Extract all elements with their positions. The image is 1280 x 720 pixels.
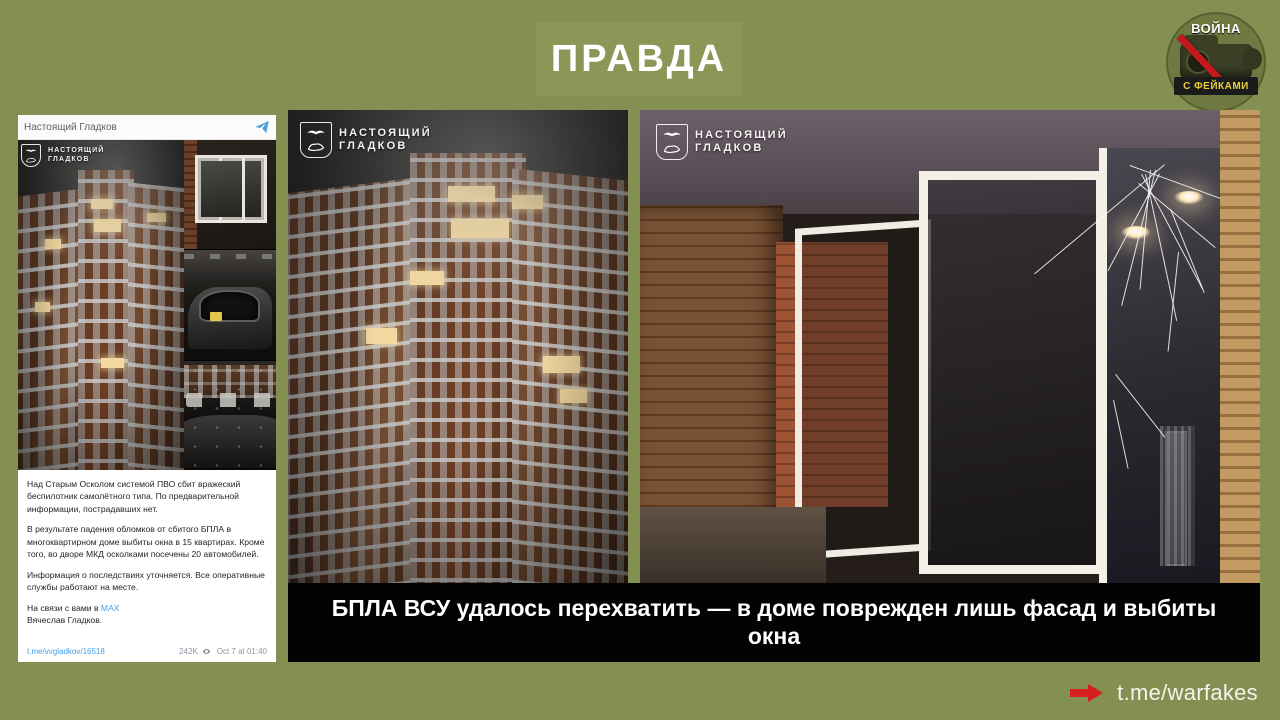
belgorod-coat-of-arms-icon	[300, 122, 332, 158]
post-signoff: На связи с вами в MAX Вячеслав Гладков.	[27, 602, 267, 627]
eye-icon	[202, 647, 211, 656]
photo-right-watermark-text: НАСТОЯЩИЙ ГЛАДКОВ	[695, 129, 788, 156]
telegram-channel-name: Настоящий Гладков	[24, 122, 254, 133]
post-paragraph: Информация о последствиях уточняется. Вс…	[27, 569, 267, 594]
photo-center-watermark-text: НАСТОЯЩИЙ ГЛАДКОВ	[339, 127, 432, 154]
caption-line-1: БПЛА ВСУ удалось перехватить — в доме по…	[332, 595, 1097, 621]
post-date: Oct 7 at 01:40	[217, 647, 267, 656]
photo-center-watermark: НАСТОЯЩИЙ ГЛАДКОВ	[300, 122, 432, 158]
belgorod-coat-of-arms-icon	[656, 124, 688, 160]
watermark-line-2: ГЛАДКОВ	[695, 142, 788, 155]
collage-thumbnails	[184, 140, 276, 470]
watermark-line-2: ГЛАДКОВ	[339, 140, 432, 153]
collage-main-photo: НАСТОЯЩИЙ ГЛАДКОВ	[18, 140, 184, 470]
post-permalink[interactable]: t.me/vvgladkov/16518	[27, 647, 179, 656]
caption-bar: БПЛА ВСУ удалось перехватить — в доме по…	[288, 583, 1260, 662]
warfakes-logo: ВОЙНА С ФЕЙКАМИ	[1166, 12, 1266, 112]
pravda-banner-label: ПРАВДА	[551, 40, 727, 78]
telegram-post-body: Над Старым Осколом системой ПВО сбит вра…	[18, 470, 276, 627]
collage-thumb-window	[184, 140, 276, 249]
page-root: ПРАВДА ВОЙНА С ФЕЙКАМИ Настоящий Гладков	[0, 0, 1280, 720]
watermark-line-1: НАСТОЯЩИЙ	[339, 127, 432, 140]
collage-thumb-car	[184, 249, 276, 359]
max-link[interactable]: MAX	[101, 603, 120, 613]
photo-center-building: НАСТОЯЩИЙ ГЛАДКОВ	[288, 110, 628, 583]
pravda-banner: ПРАВДА	[536, 22, 742, 96]
signoff-prefix: На связи с вами в	[27, 603, 101, 613]
belgorod-coat-of-arms-icon	[21, 144, 41, 167]
window-frame-center	[919, 171, 1105, 573]
telegram-plane-icon	[254, 119, 270, 135]
telegram-photo-collage: НАСТОЯЩИЙ ГЛАДКОВ	[18, 140, 276, 470]
photo-watermark-text: НАСТОЯЩИЙ ГЛАДКОВ	[48, 147, 104, 164]
logo-top-label: ВОЙНА	[1166, 21, 1266, 36]
logo-bottom-label: С ФЕЙКАМИ	[1183, 81, 1249, 92]
post-paragraph: Над Старым Осколом системой ПВО сбит вра…	[27, 478, 267, 515]
shattered-glass-pane	[1099, 148, 1223, 583]
red-arrow-right-icon	[1070, 683, 1104, 703]
post-view-count: 242K	[179, 647, 198, 656]
window-sill	[640, 507, 826, 583]
telegram-post-card: Настоящий Гладков	[18, 115, 276, 662]
building-artwork-center	[288, 110, 628, 583]
caption-text: БПЛА ВСУ удалось перехватить — в доме по…	[304, 595, 1244, 649]
post-paragraph: В результате падения обломков от сбитого…	[27, 523, 267, 560]
watermark-line-1: НАСТОЯЩИЙ	[695, 129, 788, 142]
telegram-post-footer: t.me/vvgladkov/16518 242K Oct 7 at 01:40	[18, 640, 276, 662]
brick-wall-right	[1220, 110, 1260, 583]
logo-bottom-bar: С ФЕЙКАМИ	[1174, 77, 1258, 95]
telegram-post-header: Настоящий Гладков	[18, 115, 276, 140]
bottom-watermark-url: t.me/warfakes	[1117, 680, 1258, 706]
photo-right-watermark: НАСТОЯЩИЙ ГЛАДКОВ	[656, 124, 788, 160]
interior-curtain	[1160, 426, 1195, 565]
collage-thumb-courtyard	[184, 360, 276, 470]
photo-right-broken-window: НАСТОЯЩИЙ ГЛАДКОВ	[640, 110, 1260, 583]
photo-watermark: НАСТОЯЩИЙ ГЛАДКОВ	[21, 144, 104, 167]
building-artwork	[18, 140, 184, 470]
signoff-name: Вячеслав Гладков.	[27, 615, 102, 625]
bottom-watermark: t.me/warfakes	[1070, 680, 1258, 706]
